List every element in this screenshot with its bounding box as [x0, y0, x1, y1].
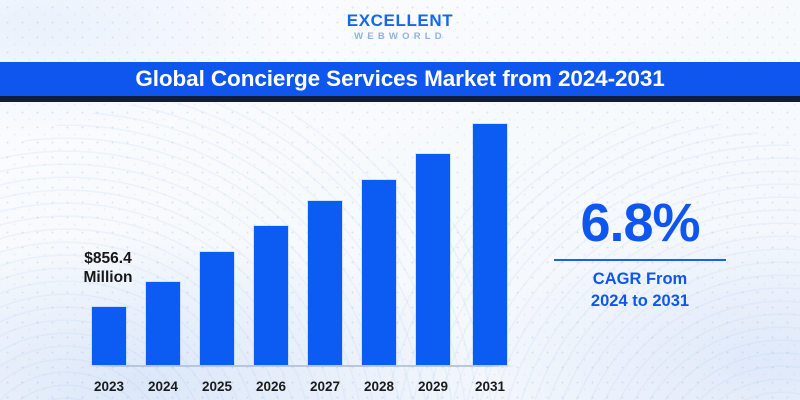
page-title: Global Concierge Services Market from 20… [135, 66, 664, 92]
chart-baseline [86, 365, 516, 367]
axis-label-2025: 2025 [187, 379, 247, 394]
axis-label-2026: 2026 [241, 379, 301, 394]
infographic-canvas: EXCELLENT WEBWORLD Global Concierge Serv… [0, 0, 800, 400]
axis-label-2028: 2028 [349, 379, 409, 394]
bar-2024 [146, 282, 180, 365]
cagr-caption-line-2: 2024 to 2031 [545, 291, 735, 312]
axis-label-2023: 2023 [79, 379, 139, 394]
chart-plot-area: 2023 2024 2025 2026 2027 2028 2029 2031 … [0, 102, 540, 400]
cagr-value: 6.8% [545, 196, 735, 250]
annotation-unit: Million [60, 269, 156, 288]
bar-2026 [254, 226, 288, 365]
bar-2029 [416, 154, 450, 365]
annotation-value: $856.4 [60, 250, 156, 269]
bar-chart: 2023 2024 2025 2026 2027 2028 2029 2031 … [0, 102, 540, 400]
cagr-caption: CAGR From 2024 to 2031 [545, 269, 735, 311]
title-band: Global Concierge Services Market from 20… [0, 62, 800, 96]
cagr-divider [554, 259, 726, 261]
axis-label-2029: 2029 [403, 379, 463, 394]
brand-name-primary: EXCELLENT [0, 12, 800, 29]
bar-2023 [92, 307, 126, 365]
axis-label-2024: 2024 [133, 379, 193, 394]
axis-label-2031: 2031 [460, 379, 520, 394]
axis-label-2027: 2027 [295, 379, 355, 394]
bar-2031 [473, 124, 507, 365]
bar-2028 [362, 180, 396, 365]
bar-2025 [200, 252, 234, 365]
brand-name-secondary: WEBWORLD [0, 32, 800, 42]
bar-2027 [308, 201, 342, 365]
cagr-caption-line-1: CAGR From [545, 269, 735, 290]
first-bar-value-annotation: $856.4 Million [60, 250, 156, 288]
brand-logo: EXCELLENT WEBWORLD [0, 12, 800, 42]
cagr-callout: 6.8% CAGR From 2024 to 2031 [545, 196, 735, 312]
